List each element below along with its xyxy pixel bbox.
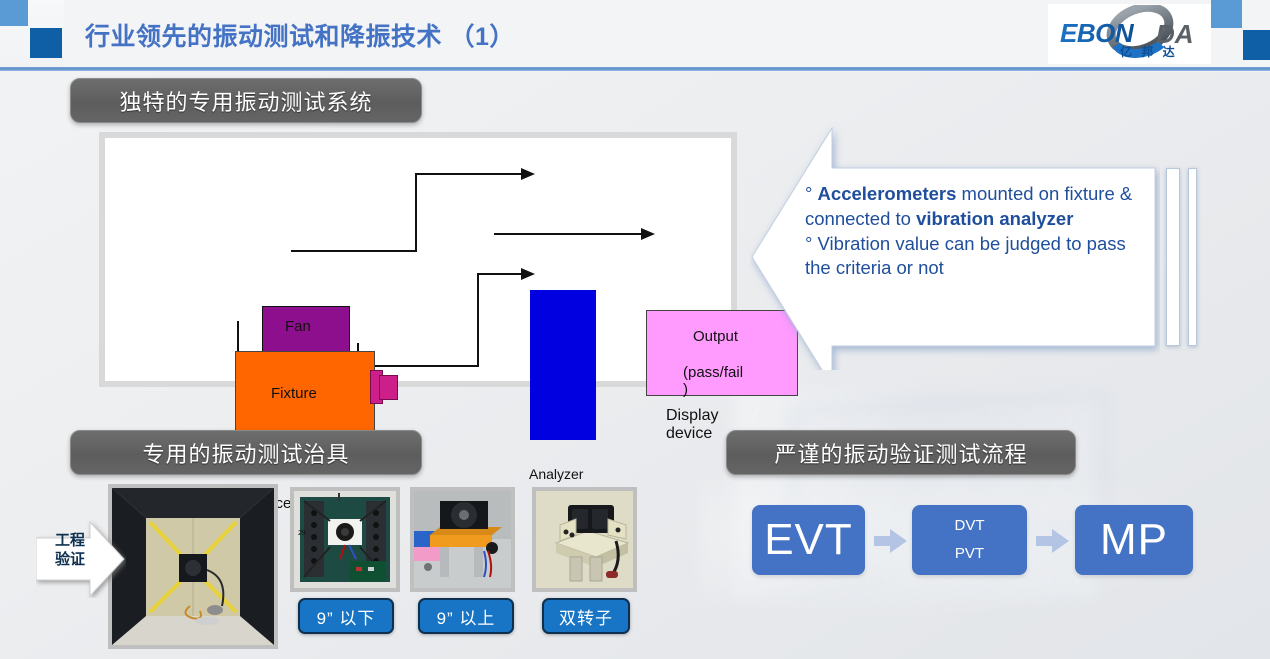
callout-side-bar-2 — [1188, 168, 1197, 346]
engineering-validation-line-2: 验证 — [41, 551, 99, 570]
callout-bullet-2: ° Vibration value can be judged to pass … — [805, 232, 1145, 282]
deco-square-top-left-light — [0, 0, 28, 26]
section-header-system-label: 独特的专用振动测试系统 — [119, 85, 372, 117]
diagram-display-device-label: Display device — [666, 407, 731, 443]
section-header-flow-label: 严谨的振动验证测试流程 — [774, 437, 1027, 469]
callout-bold-vibration-analyzer: vibration analyzer — [916, 208, 1073, 229]
svg-text:29: 29 — [298, 530, 306, 537]
diagram-output-label: Output — [693, 328, 738, 345]
photo-tag-over-9inch-label: 9” 以上 — [437, 604, 496, 629]
photo-fixture-under-9inch: 29 — [290, 487, 400, 592]
photo-vibration-chamber — [108, 484, 278, 649]
callout-arrow: ° Accelerometers mounted on fixture & co… — [750, 120, 1160, 370]
diagram-fixture-label: Fixture — [271, 385, 317, 402]
callout-bullet-1: ° Accelerometers mounted on fixture & co… — [805, 182, 1145, 232]
flow-step-mp-label: MP — [1100, 518, 1168, 562]
diagram-wiring — [105, 138, 731, 381]
photo-tag-under-9inch[interactable]: 9” 以下 — [298, 598, 394, 634]
engineering-validation-arrow: 工程 验证 — [36, 520, 126, 598]
callout-side-bar-1 — [1166, 168, 1180, 346]
svg-text:EBON: EBON — [1060, 18, 1135, 48]
flow-step-dvt-label: DVT — [955, 512, 985, 541]
diagram-output-sublabel: (pass/fail ) — [683, 364, 743, 398]
page-title: 行业领先的振动测试和降振技术 （1） — [85, 17, 515, 53]
deco-square-top-left-dark — [30, 28, 62, 58]
photo-tag-under-9inch-label: 9” 以下 — [317, 604, 376, 629]
flow-step-mp[interactable]: MP — [1075, 505, 1193, 575]
flow-arrow-1 — [874, 528, 908, 554]
callout-bold-accelerometers: Accelerometers — [818, 183, 957, 204]
engineering-validation-label: 工程 验证 — [41, 532, 99, 570]
ebonda-logo: EBON DA 亿 邦 达 — [1048, 4, 1211, 64]
flow-step-evt[interactable]: EVT — [752, 505, 865, 575]
flow-step-pvt-label: PVT — [955, 540, 984, 569]
photo-tag-dual-rotor-label: 双转子 — [559, 604, 613, 629]
vibration-test-system-diagram: Fan Fixture Analyzer Output (pass/fail )… — [99, 132, 737, 387]
flow-step-evt-label: EVT — [764, 518, 853, 562]
svg-text:亿 邦 达: 亿 邦 达 — [1120, 44, 1178, 59]
section-header-fixtures: 专用的振动测试治具 — [70, 430, 422, 475]
diagram-connector-side-b — [379, 375, 398, 400]
engineering-validation-line-1: 工程 — [41, 532, 99, 551]
deco-square-top-right-light — [1211, 0, 1242, 28]
diagram-fan-label: Fan — [285, 318, 311, 335]
section-header-fixtures-label: 专用的振动测试治具 — [142, 437, 349, 469]
callout-bullet-marker-1: ° — [805, 183, 818, 204]
photo-tag-dual-rotor[interactable]: 双转子 — [542, 598, 630, 634]
diagram-analyzer-label: Analyzer — [529, 466, 583, 482]
photo-fixture-dual-rotor — [532, 487, 637, 592]
section-header-flow: 严谨的振动验证测试流程 — [726, 430, 1076, 475]
section-header-system: 独特的专用振动测试系统 — [70, 78, 422, 123]
deco-square-top-right-dark — [1243, 30, 1270, 60]
header-bar: 行业领先的振动测试和降振技术 （1） EBON DA 亿 邦 达 — [0, 0, 1270, 72]
diagram-analyzer-block — [530, 290, 596, 440]
callout-text: ° Accelerometers mounted on fixture & co… — [805, 182, 1145, 281]
flow-arrow-2 — [1036, 528, 1070, 554]
photo-fixture-over-9inch — [410, 487, 515, 592]
header-accent-line — [0, 67, 1270, 71]
photo-tag-over-9inch[interactable]: 9” 以上 — [418, 598, 514, 634]
flow-step-dvt-pvt[interactable]: DVT PVT — [912, 505, 1027, 575]
